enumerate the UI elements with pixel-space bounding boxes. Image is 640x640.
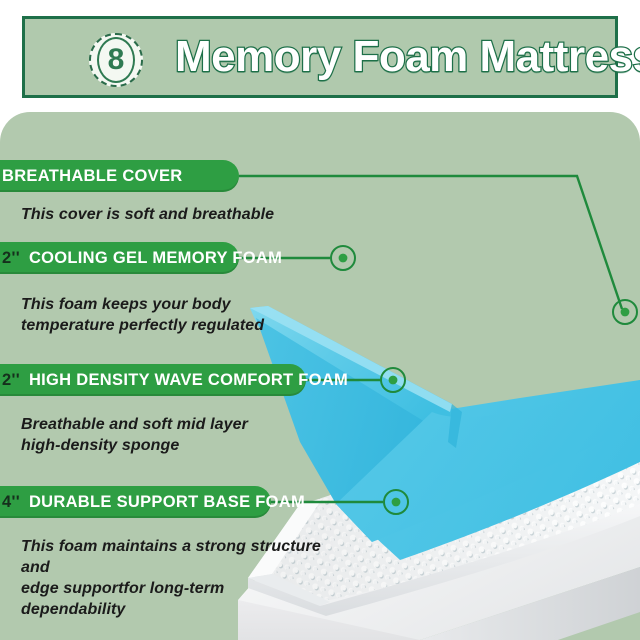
callout-label-high-density-wave-comfort-foam: HIGH DENSITY WAVE COMFORT FOAM <box>29 371 348 390</box>
infographic-root: 8 Memory Foam Mattress <box>0 0 640 640</box>
callout-thickness-durable-support-base-foam: 4'' <box>2 493 20 512</box>
callout-pill-cooling-gel-memory-foam[interactable]: 2'' COOLING GEL MEMORY FOAM <box>0 242 239 274</box>
callout-pill-durable-support-base-foam[interactable]: 4'' DURABLE SUPPORT BASE FOAM <box>0 486 271 518</box>
callout-label-cooling-gel-memory-foam: COOLING GEL MEMORY FOAM <box>29 249 282 268</box>
callout-description-cooling-gel-memory-foam: This foam keeps your body temperature pe… <box>21 294 281 336</box>
callout-label-breathable-cover: BREATHABLE COVER <box>2 167 183 186</box>
callout-thickness-high-density-wave-comfort-foam: 2'' <box>2 371 20 390</box>
callout-thickness-cooling-gel-memory-foam: 2'' <box>2 249 20 268</box>
callout-description-durable-support-base-foam: This foam maintains a strong structure a… <box>21 536 321 620</box>
callout-pill-high-density-wave-comfort-foam[interactable]: 2'' HIGH DENSITY WAVE COMFORT FOAM <box>0 364 306 396</box>
step-number-badge: 8 <box>89 33 143 87</box>
callout-pill-breathable-cover[interactable]: BREATHABLE COVER <box>0 160 239 192</box>
page-title: Memory Foam Mattress <box>175 32 640 82</box>
step-number-value: 8 <box>97 37 135 83</box>
callout-label-durable-support-base-foam: DURABLE SUPPORT BASE FOAM <box>29 493 305 512</box>
callout-description-high-density-wave-comfort-foam: Breathable and soft mid layer high-densi… <box>21 414 301 456</box>
callout-description-breathable-cover: This cover is soft and breathable <box>21 204 281 225</box>
header-bar: 8 Memory Foam Mattress <box>22 16 618 98</box>
main-panel: BREATHABLE COVER This cover is soft and … <box>0 112 640 640</box>
